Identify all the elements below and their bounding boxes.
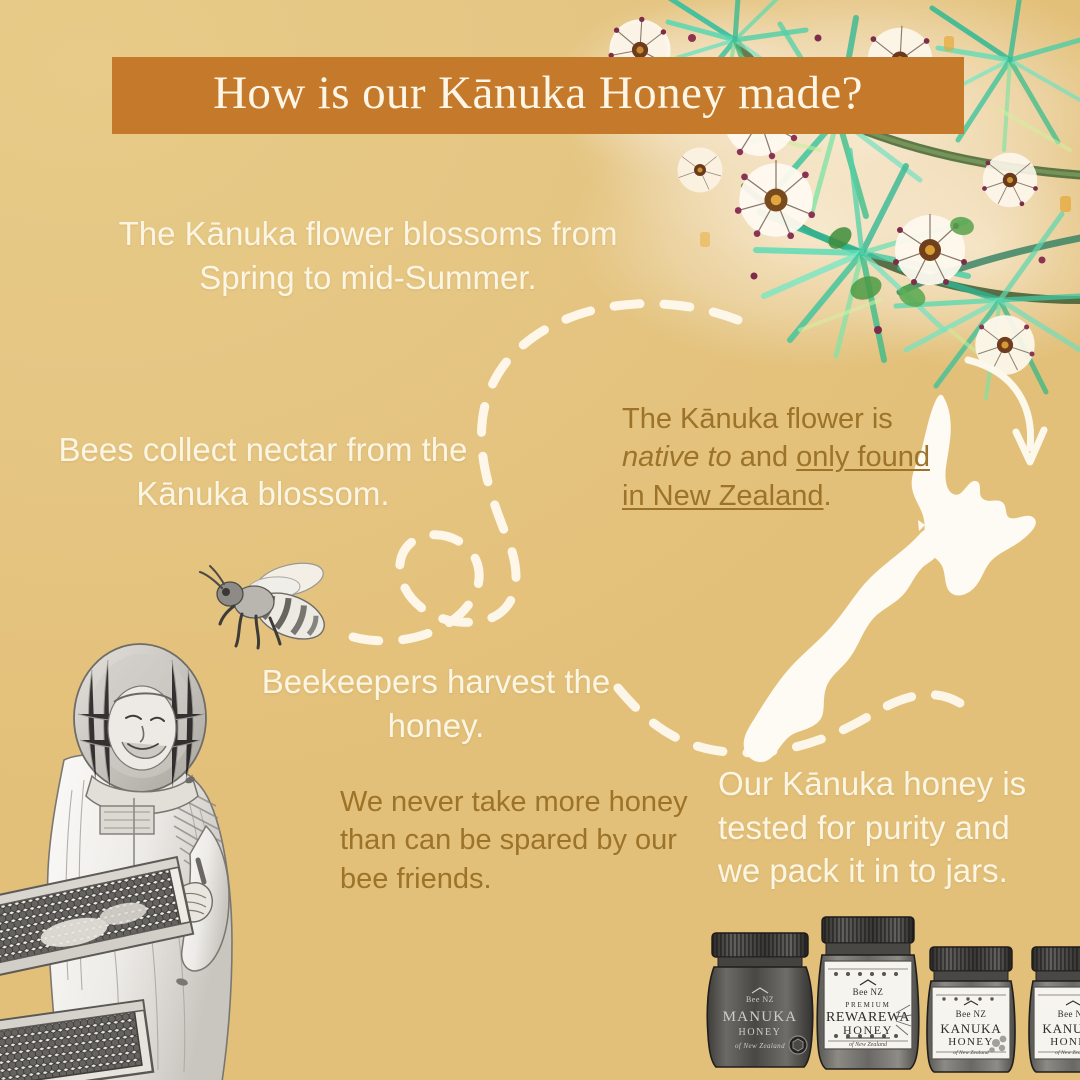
dashed-flight-path-lower xyxy=(618,688,978,753)
jar-kanuka-cropped: Bee NZ KANUKA HONEY of New Zealand xyxy=(1029,947,1080,1072)
svg-text:of New Zealand: of New Zealand xyxy=(735,1042,785,1050)
caption-nectar: Bees collect nectar from the Kānuka blos… xyxy=(28,428,498,515)
native-part2: and xyxy=(732,441,797,473)
curved-arrow xyxy=(968,360,1044,462)
jar-kanuka: Bee NZ KANUKA HONEY of New Zealand xyxy=(927,947,1015,1072)
svg-text:of New Zealand: of New Zealand xyxy=(1055,1049,1080,1056)
native-part1: The Kānuka flower is xyxy=(622,403,893,435)
svg-text:HONEY: HONEY xyxy=(1050,1036,1080,1048)
title-banner: How is our Kānuka Honey made? xyxy=(112,57,964,134)
svg-text:REWAREWA: REWAREWA xyxy=(826,1010,910,1025)
honey-jars-illustration: Bee NZ MANUKA HONEY of New Zealand xyxy=(700,905,1080,1080)
svg-text:PREMIUM: PREMIUM xyxy=(845,1001,890,1009)
native-italic: native to xyxy=(622,441,732,473)
svg-text:KANUKA: KANUKA xyxy=(1042,1021,1080,1036)
caption-native: The Kānuka flower is native to and only … xyxy=(622,400,952,515)
svg-text:MANUKA: MANUKA xyxy=(723,1009,798,1025)
svg-text:KANUKA: KANUKA xyxy=(940,1021,1001,1036)
bee-illustration xyxy=(196,556,356,656)
svg-text:of New Zealand: of New Zealand xyxy=(849,1041,888,1048)
native-part3: . xyxy=(824,480,832,512)
svg-text:HONEY: HONEY xyxy=(843,1023,893,1037)
infographic-poster: How is our Kānuka Honey made? xyxy=(0,0,1080,1080)
jar-manuka: Bee NZ MANUKA HONEY of New Zealand xyxy=(707,933,813,1067)
svg-text:Bee NZ: Bee NZ xyxy=(956,1009,987,1019)
page-title: How is our Kānuka Honey made? xyxy=(213,70,863,121)
svg-text:Bee NZ: Bee NZ xyxy=(853,987,884,997)
svg-text:HONEY: HONEY xyxy=(739,1027,782,1038)
caption-spared: We never take more honey than can be spa… xyxy=(340,783,690,898)
svg-text:HONEY: HONEY xyxy=(948,1036,994,1048)
svg-text:Bee NZ: Bee NZ xyxy=(1058,1009,1080,1019)
caption-jars: Our Kānuka honey is tested for purity an… xyxy=(718,762,1048,893)
kanuka-flower-illustration xyxy=(0,0,1080,1080)
path-and-map-layer xyxy=(0,0,1080,1080)
caption-harvest: Beekeepers harvest the honey. xyxy=(236,660,636,747)
caption-blossom: The Kānuka flower blossoms from Spring t… xyxy=(118,212,618,299)
svg-text:Bee NZ: Bee NZ xyxy=(746,995,774,1004)
jar-rewarewa: Bee NZ PREMIUM REWAREWA HONEY of New Zea… xyxy=(817,917,919,1069)
svg-text:of New Zealand: of New Zealand xyxy=(953,1049,989,1056)
